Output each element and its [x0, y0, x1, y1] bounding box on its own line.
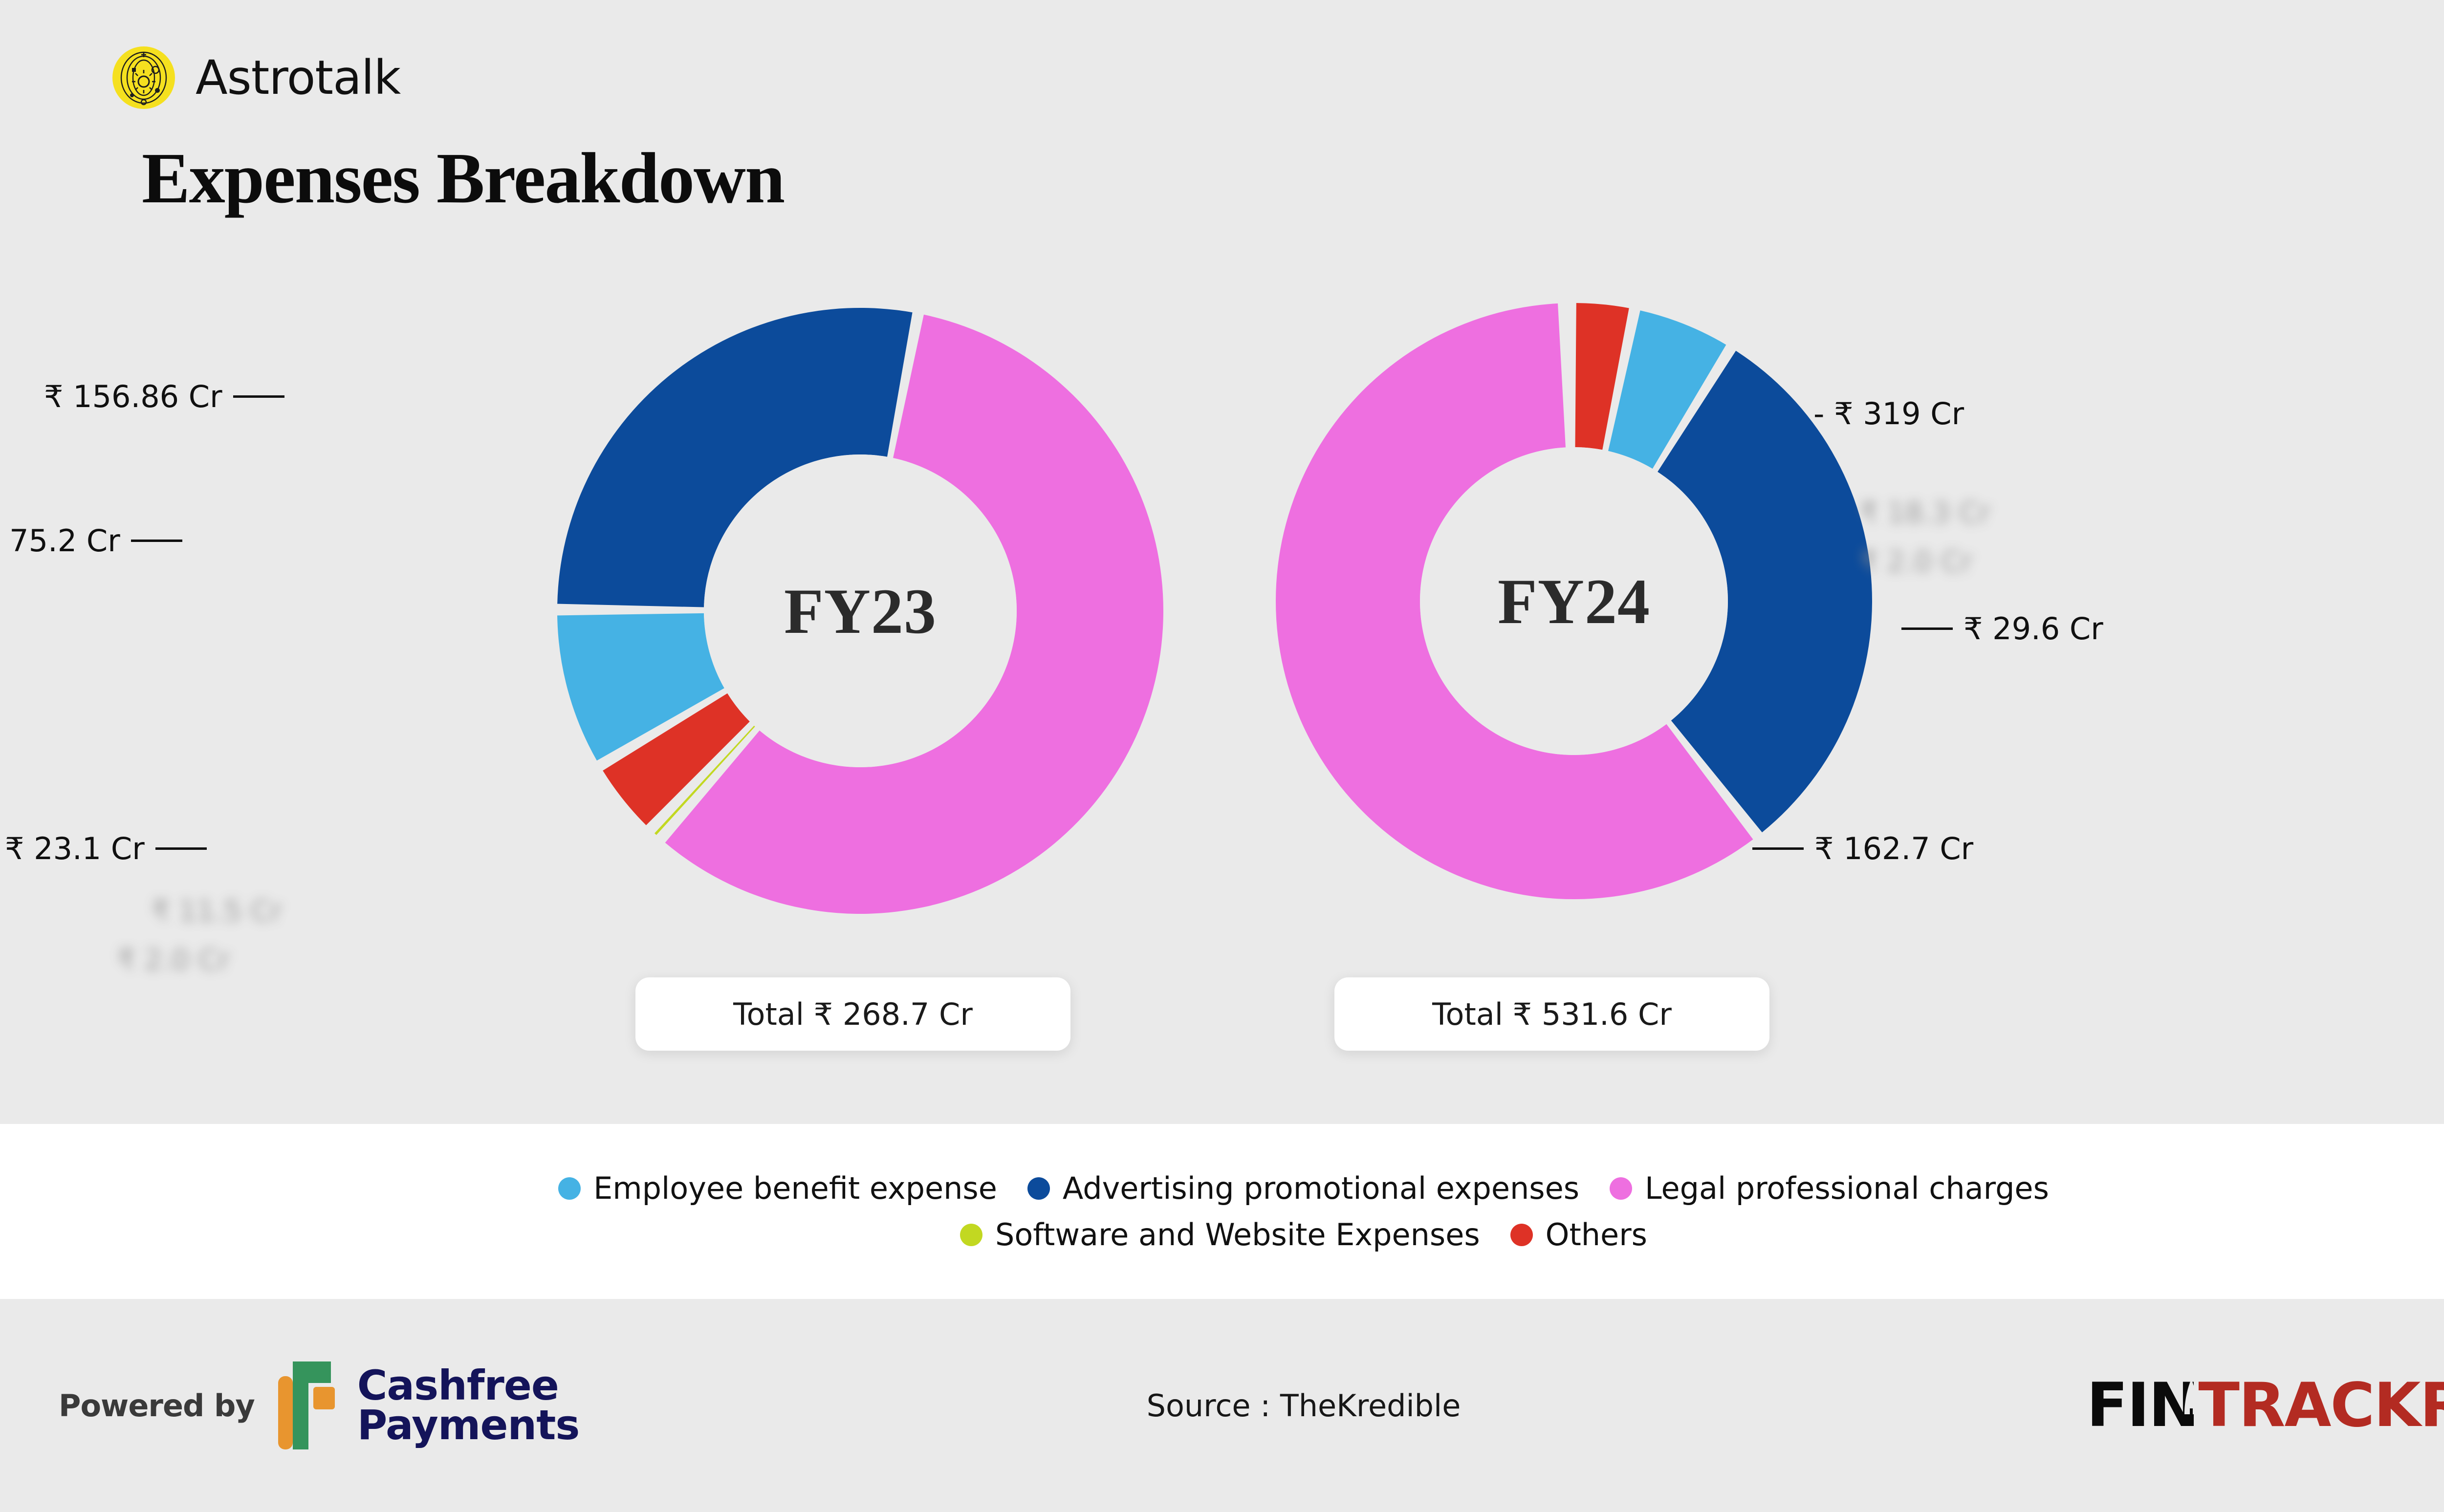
leader-dash-icon [1752, 847, 1804, 850]
legend-item-legal-professional-charges[interactable]: Legal professional charges [1610, 1170, 2049, 1206]
legend-item-others[interactable]: Others [1510, 1217, 1647, 1253]
legend-swatch-icon [960, 1224, 982, 1246]
callout-fy23-employee-value: ₹ 23.1 Cr [5, 831, 145, 866]
powered-by-text: Powered by [59, 1388, 255, 1424]
donut-chart-fy23: FY23 ₹ 156.86 Cr ₹ 75.2 Cr ₹ 23.1 Cr ₹ 1… [543, 293, 1178, 929]
fy24-center-label: FY24 [1261, 288, 1887, 914]
legend-label: Employee benefit expense [593, 1170, 997, 1206]
callout-fy23-advertising-value: ₹ 75.2 Cr [0, 523, 120, 559]
callout-fy24-advertising: ₹ 162.7 Cr [1752, 831, 1973, 866]
donut-chart-fy24: FY24 - ₹ 319 Cr ₹ 18.3 Cr ₹ 2.0 Cr ₹ 29.… [1261, 288, 1887, 914]
fy24-total-pill: Total ₹ 531.6 Cr [1334, 977, 1769, 1051]
leader-dash-icon [233, 395, 284, 398]
callout-fy24-software-obscured: ₹ 2.0 Cr [1860, 545, 1972, 578]
astro-atom-icon [112, 46, 175, 109]
legend-label: Others [1546, 1217, 1647, 1253]
leader-dash-icon [1901, 627, 1953, 630]
legend-swatch-icon [1027, 1177, 1050, 1200]
page-title: Expenses Breakdown [142, 137, 784, 220]
legend-swatch-icon [1610, 1177, 1632, 1200]
powered-by-block: Powered by Cashfree Payments [59, 1357, 579, 1454]
cashfree-line-2: Payments [357, 1405, 580, 1445]
callout-fy24-employee-value: ₹ 29.6 Cr [1964, 611, 2103, 647]
fintrackr-logo: FIN TRACKR [2087, 1370, 2444, 1441]
legend-label: Legal professional charges [1645, 1170, 2049, 1206]
callout-fy23-others-obscured: ₹ 11.5 Cr [152, 894, 282, 928]
leader-dash-icon [131, 540, 182, 542]
source-text: Source : TheKredible [1147, 1388, 1461, 1424]
legend-item-software-and-website-expenses[interactable]: Software and Website Expenses [960, 1217, 1480, 1253]
callout-fy23-software-obscured: ₹ 2.0 Cr [117, 943, 230, 976]
rocket-icon [2179, 1379, 2204, 1422]
callout-fy24-others-obscured: ₹ 18.3 Cr [1860, 496, 1990, 529]
legend-item-employee-benefit-expense[interactable]: Employee benefit expense [558, 1170, 997, 1206]
legend: Employee benefit expense Advertising pro… [0, 1124, 2444, 1299]
callout-fy23-advertising: ₹ 75.2 Cr [0, 523, 182, 559]
callout-fy24-legal-value: - ₹ 319 Cr [1813, 396, 1964, 432]
legend-swatch-icon [558, 1177, 581, 1200]
brand-name: Astrotalk [196, 50, 400, 105]
fintrackr-trackr: TRACKR [2198, 1370, 2444, 1441]
brand-lockup: Astrotalk [112, 46, 400, 109]
legend-row-1: Employee benefit expense Advertising pro… [558, 1170, 2049, 1206]
cashfree-line-1: Cashfree [357, 1366, 580, 1405]
callout-fy23-employee: ₹ 23.1 Cr [5, 831, 207, 866]
infographic-canvas: Astrotalk Expenses Breakdown FY23 ₹ 156.… [0, 0, 2444, 1512]
callout-fy24-advertising-value: ₹ 162.7 Cr [1814, 831, 1973, 866]
fy23-total-pill: Total ₹ 268.7 Cr [635, 977, 1070, 1051]
charts-container: FY23 ₹ 156.86 Cr ₹ 75.2 Cr ₹ 23.1 Cr ₹ 1… [0, 274, 2444, 1119]
legend-label: Software and Website Expenses [995, 1217, 1480, 1253]
fy23-center-label: FY23 [543, 293, 1178, 929]
cashfree-mark-icon [271, 1357, 345, 1454]
legend-item-advertising-promotional-expenses[interactable]: Advertising promotional expenses [1027, 1170, 1579, 1206]
leader-dash-icon [155, 847, 207, 850]
callout-fy24-employee: ₹ 29.6 Cr [1901, 611, 2103, 647]
legend-row-2: Software and Website Expenses Others [960, 1217, 1647, 1253]
legend-label: Advertising promotional expenses [1063, 1170, 1579, 1206]
footer: Powered by Cashfree Payments Source : Th… [0, 1299, 2444, 1512]
callout-fy23-legal-value: ₹ 156.86 Cr [44, 379, 222, 414]
callout-fy23-legal: ₹ 156.86 Cr [44, 379, 284, 414]
callout-fy24-legal: - ₹ 319 Cr [1813, 396, 1964, 432]
legend-swatch-icon [1510, 1224, 1533, 1246]
cashfree-logo: Cashfree Payments [271, 1357, 580, 1454]
